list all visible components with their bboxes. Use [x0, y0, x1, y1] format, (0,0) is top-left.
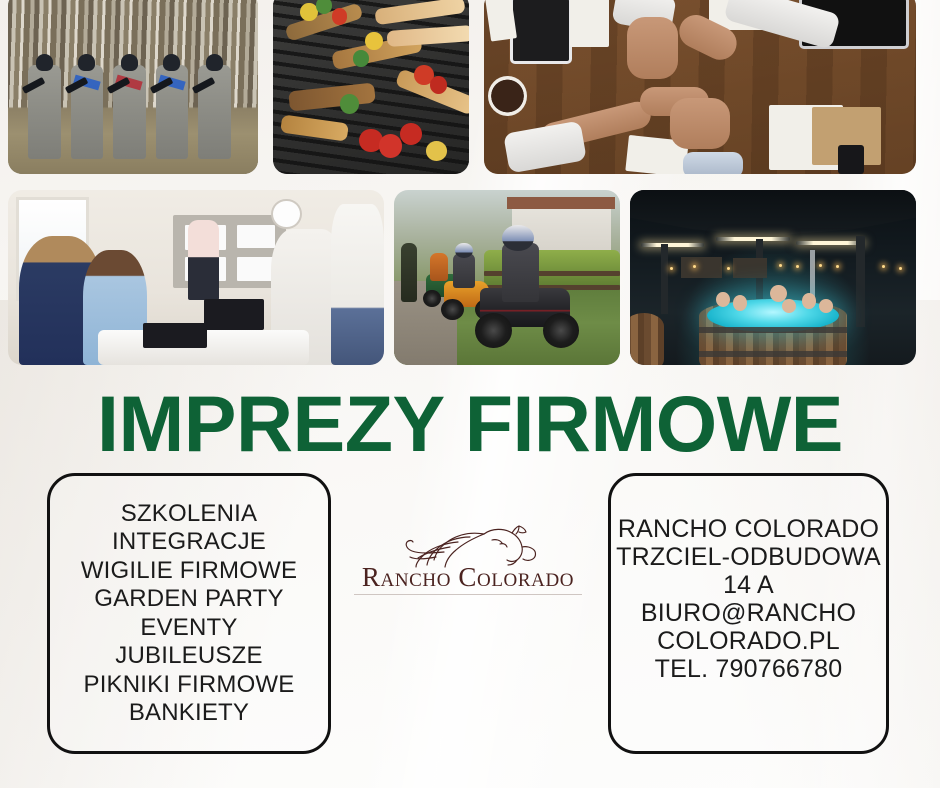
service-item: SZKOLENIA [81, 500, 297, 529]
contact-details: RANCHO COLORADO TRZCIEL-ODBUDOWA 14 A BI… [616, 515, 881, 683]
contact-line-name: RANCHO COLORADO [616, 515, 881, 543]
photo-quads [394, 190, 620, 365]
photo-grill [273, 0, 469, 174]
services-list: SZKOLENIA INTEGRACJE WIGILIE FIRMOWE GAR… [81, 500, 297, 728]
photo-paintball [8, 0, 258, 174]
service-item: EVENTY [81, 614, 297, 643]
service-item: BANKIETY [81, 699, 297, 728]
poster-canvas: IMPREZY FIRMOWE SZKOLENIA INTEGRACJE WIG… [0, 0, 940, 788]
contact-line-email-2: COLORADO.PL [616, 627, 881, 655]
logo-wordmark: Rancho Colorado [352, 562, 584, 592]
service-item: JUBILEUSZE [81, 642, 297, 671]
service-item: WIGILIE FIRMOWE [81, 557, 297, 586]
contact-line-street: TRZCIEL-ODBUDOWA [616, 543, 881, 571]
photo-teamwork [484, 0, 916, 174]
service-item: GARDEN PARTY [81, 585, 297, 614]
page-title: IMPREZY FIRMOWE [0, 381, 940, 467]
photo-hottub [630, 190, 916, 365]
contact-line-phone: TEL. 790766780 [616, 655, 881, 683]
service-item: PIKNIKI FIRMOWE [81, 671, 297, 700]
photo-training [8, 190, 384, 365]
logo-divider [354, 594, 582, 595]
contact-box: RANCHO COLORADO TRZCIEL-ODBUDOWA 14 A BI… [608, 473, 889, 754]
services-box: SZKOLENIA INTEGRACJE WIGILIE FIRMOWE GAR… [47, 473, 331, 754]
contact-line-email-1: BIURO@RANCHO [616, 599, 881, 627]
rancho-colorado-logo: Rancho Colorado [352, 524, 584, 598]
service-item: INTEGRACJE [81, 528, 297, 557]
contact-line-number: 14 A [616, 571, 881, 599]
